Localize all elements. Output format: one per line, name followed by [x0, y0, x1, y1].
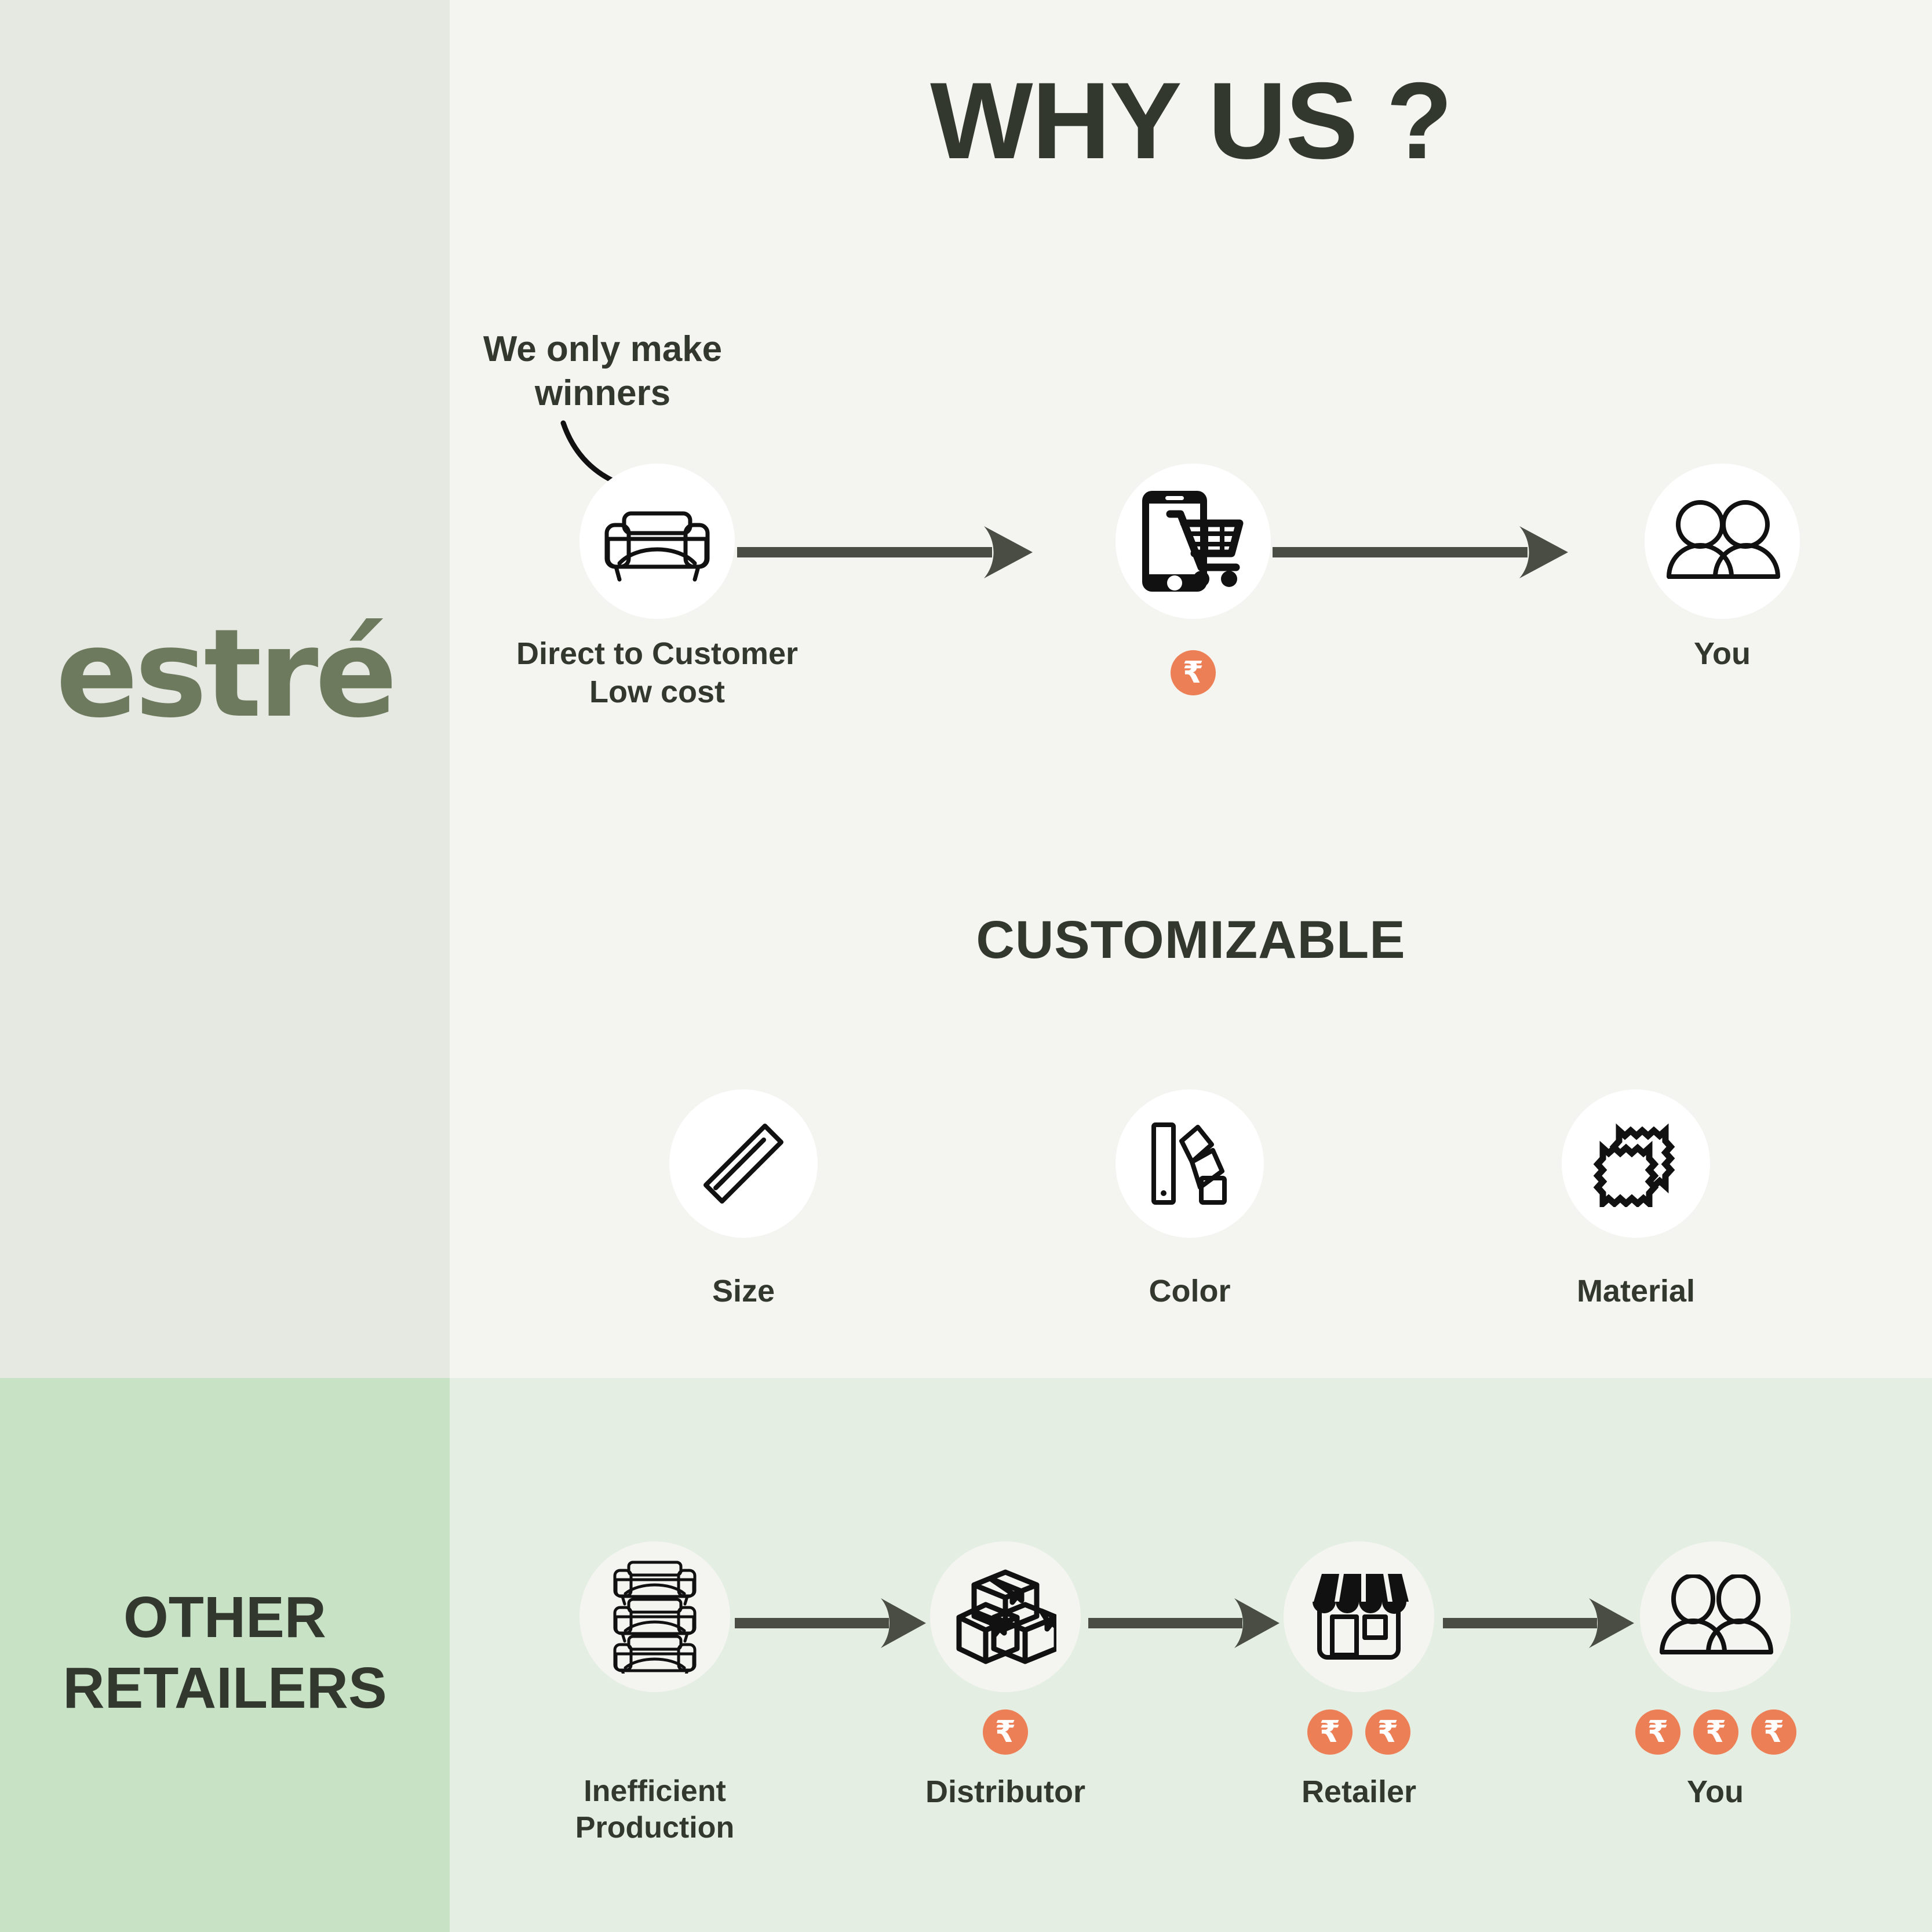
customizable-label-color: Color [1045, 1273, 1335, 1311]
customizable-icon-color [1116, 1089, 1264, 1238]
node-label-you-bottom: You [1570, 1773, 1860, 1811]
flow-arrow-icon [737, 522, 1033, 585]
customizable-title: CUSTOMIZABLE [450, 910, 1932, 971]
rupee-badge: ₹ [1751, 1709, 1796, 1755]
customizable-label-size: Size [599, 1273, 888, 1311]
customizable-label-material: Material [1491, 1273, 1781, 1311]
rupee-badge: ₹ [1365, 1709, 1410, 1755]
flow-arrow-icon [735, 1592, 926, 1656]
customizable-icon-size [669, 1089, 818, 1238]
customizable-icon-material [1562, 1089, 1710, 1238]
node-icon-direct-to-customer [579, 464, 735, 619]
flow-arrow-icon [1443, 1592, 1634, 1656]
node-label-distributor: Distributor [861, 1773, 1150, 1811]
rupee-badge: ₹ [1307, 1709, 1353, 1755]
two-people-icon [1664, 499, 1780, 584]
stacked-sofas-icon [611, 1560, 698, 1674]
node-label-retailer: Retailer [1214, 1773, 1504, 1811]
flow-arrow-icon [1273, 522, 1568, 585]
node-icon-you-top [1645, 464, 1800, 619]
sofa-icon [602, 501, 712, 582]
two-people-icon [1657, 1574, 1773, 1659]
brand-logo-text: estré [56, 603, 394, 745]
callout-we-only-make-winners: We only make winners [440, 327, 765, 415]
rupee-badges-mobile-shopping: ₹ [1171, 650, 1216, 695]
node-icon-distributor [930, 1541, 1081, 1692]
boxes-icon [954, 1569, 1056, 1665]
node-icon-inefficient-production [579, 1541, 730, 1692]
node-icon-you-bottom [1640, 1541, 1791, 1692]
node-label-you-top: You [1577, 635, 1867, 673]
ruler-icon [700, 1120, 787, 1207]
mobile-cart-icon [1138, 487, 1249, 595]
storefront-icon [1309, 1569, 1409, 1664]
node-icon-mobile-shopping [1116, 464, 1271, 619]
rupee-badge: ₹ [1693, 1709, 1738, 1755]
brand-logo: estré [0, 603, 450, 745]
rupee-badges-distributor: ₹ [983, 1709, 1028, 1755]
page-title: WHY US ? [450, 58, 1932, 183]
rupee-badges-you-bottom: ₹ ₹ ₹ [1635, 1709, 1796, 1755]
rupee-badges-retailer: ₹ ₹ [1307, 1709, 1410, 1755]
rupee-badge: ₹ [1171, 650, 1216, 695]
node-label-inefficient-production: InefficientProduction [510, 1773, 800, 1847]
fabric-swatch-icon [1590, 1120, 1682, 1207]
color-swatch-icon [1149, 1120, 1230, 1207]
node-icon-retailer [1284, 1541, 1434, 1692]
rupee-badge: ₹ [983, 1709, 1028, 1755]
rupee-badge: ₹ [1635, 1709, 1681, 1755]
other-retailers-label: OTHERRETAILERS [0, 1582, 450, 1723]
node-label-direct-to-customer: Direct to CustomerLow cost [495, 635, 819, 712]
flow-arrow-icon [1088, 1592, 1280, 1656]
